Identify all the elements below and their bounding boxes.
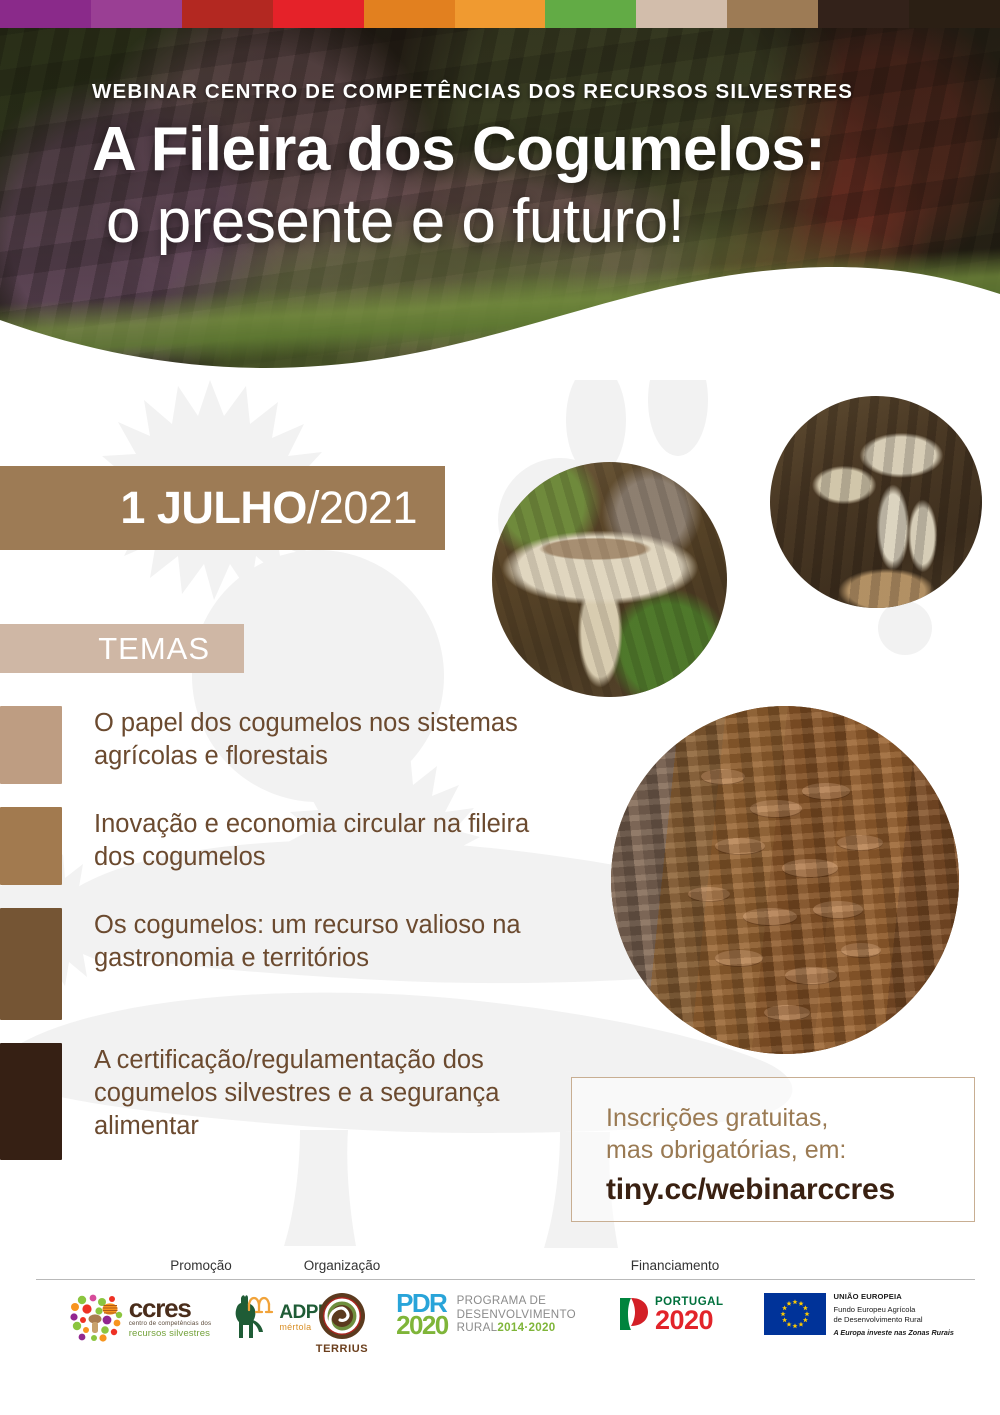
footer: Promoção [0, 1258, 1000, 1415]
eu-line-3: A Europa investe nas Zonas Rurais [834, 1328, 954, 1337]
theme-label-1: O papel dos cogumelos nos sistemas agríc… [62, 706, 560, 773]
top-color-stripe [0, 0, 1000, 28]
stripe-swatch-5 [364, 0, 455, 28]
theme-item: Os cogumelos: um recurso valioso na gast… [0, 908, 560, 1020]
terrius-logo: TERRIUS [316, 1292, 368, 1355]
portugal-shield-icon [616, 1294, 650, 1334]
ccres-wordmark: ccres [129, 1297, 212, 1320]
theme-color-chip-4 [0, 1043, 62, 1160]
registration-line-2: mas obrigatórias, em: [606, 1134, 974, 1166]
theme-color-chip-1 [0, 706, 62, 784]
stripe-swatch-2 [91, 0, 182, 28]
stripe-swatch-4 [273, 0, 364, 28]
ccres-subtitle-1: centro de competências dos [129, 1320, 212, 1327]
stripe-swatch-10 [818, 0, 909, 28]
theme-label-3: Os cogumelos: um recurso valioso na gast… [62, 908, 560, 975]
theme-color-chip-3 [0, 908, 62, 1020]
stripe-swatch-7 [545, 0, 636, 28]
pdr2020-logo: PDR 2020 PROGRAMA DE DESENVOLVIMENTO RUR… [396, 1292, 576, 1337]
date-day-month: 1 JULHO [120, 482, 307, 533]
eu-line-2: de Desenvolvimento Rural [834, 1315, 954, 1325]
date-year: /2021 [307, 482, 417, 533]
financing-label: Financiamento [375, 1258, 975, 1279]
stripe-swatch-3 [182, 0, 273, 28]
portugal2020-logo: PORTUGAL 2020 [616, 1294, 724, 1334]
pdr-text-line-1: PROGRAMA DE [457, 1294, 576, 1308]
stripe-swatch-9 [727, 0, 818, 28]
portugal-year: 2020 [655, 1308, 724, 1332]
pdr-text-line-3a: RURAL [457, 1321, 498, 1335]
eu-flag-icon [764, 1293, 826, 1335]
date-banner: 1 JULHO/2021 [0, 466, 445, 550]
registration-url[interactable]: tiny.cc/webinarccres [606, 1173, 974, 1207]
theme-label-4: A certificação/regulamentação dos cogume… [62, 1043, 560, 1143]
ccres-logo: ccres centro de competências dos recurso… [69, 1293, 212, 1343]
hero-title-line-2: o presente e o futuro! [106, 188, 853, 256]
theme-item: A certificação/regulamentação dos cogume… [0, 1043, 560, 1160]
themes-list: O papel dos cogumelos nos sistemas agríc… [0, 706, 560, 1183]
theme-item: Inovação e economia circular na fileira … [0, 807, 560, 885]
stripe-swatch-11 [909, 0, 1000, 28]
temas-section-label: TEMAS [0, 624, 244, 673]
theme-color-chip-2 [0, 807, 62, 885]
eu-line-1: Fundo Europeu Agrícola [834, 1305, 954, 1315]
stripe-swatch-8 [636, 0, 727, 28]
hero-banner: WEBINAR CENTRO DE COMPETÊNCIAS DOS RECUR… [0, 0, 1000, 380]
hero-text-block: WEBINAR CENTRO DE COMPETÊNCIAS DOS RECUR… [92, 80, 853, 257]
footer-financing-column: Financiamento PDR 2020 PROGRAMA DE DESEN… [375, 1258, 975, 1337]
terrius-spiral-icon [318, 1292, 366, 1340]
ccres-mushroom-dots-icon [69, 1293, 125, 1343]
pdr-text-line-3b: 2014·2020 [497, 1321, 555, 1335]
photo-shiitake-logs [611, 706, 959, 1054]
registration-line-1: Inscrições gratuitas, [606, 1102, 974, 1134]
hero-title-line-1: A Fileira dos Cogumelos: [92, 118, 853, 182]
photo-boletus-mushroom [492, 462, 727, 697]
european-union-logo: UNIÃO EUROPEIA Fundo Europeu Agrícola de… [764, 1292, 954, 1337]
registration-box[interactable]: Inscrições gratuitas, mas obrigatórias, … [571, 1077, 975, 1222]
stripe-swatch-1 [0, 0, 91, 28]
theme-label-2: Inovação e economia circular na fileira … [62, 807, 560, 874]
theme-item: O papel dos cogumelos nos sistemas agríc… [0, 706, 560, 784]
eu-title: UNIÃO EUROPEIA [834, 1292, 954, 1301]
photo-mushroom-cluster [770, 396, 982, 608]
pdr-text-line-2: DESENVOLVIMENTO [457, 1308, 576, 1322]
pdr-mark-bottom: 2020 [396, 1314, 447, 1336]
temas-label-text: TEMAS [98, 631, 244, 667]
stripe-swatch-6 [455, 0, 546, 28]
hero-kicker: WEBINAR CENTRO DE COMPETÊNCIAS DOS RECUR… [92, 80, 853, 104]
hero-wave-divider [0, 242, 1000, 380]
ccres-subtitle-2: recursos silvestres [129, 1328, 212, 1339]
terrius-wordmark: TERRIUS [316, 1343, 368, 1355]
